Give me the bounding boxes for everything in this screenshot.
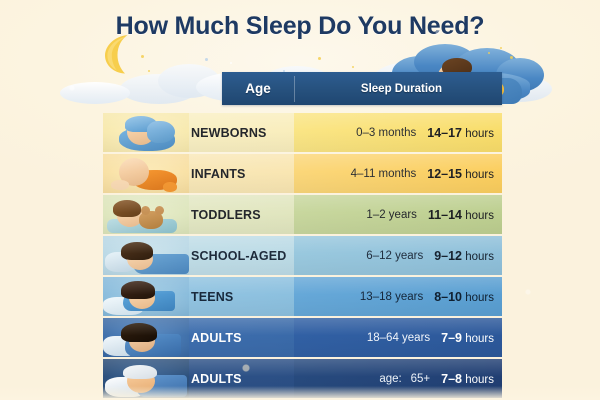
duration-unit: hours [465,251,494,263]
toddler-with-teddy-icon [103,195,189,234]
table-body: NEWBORNS 0–3 months 14–17 hours [103,113,502,398]
table-row[interactable]: INFANTS 4–11 months 12–15 hours [103,154,502,193]
page-title: How Much Sleep Do You Need? [0,12,600,41]
age-range-value: 0–3 months [356,127,416,139]
duration-value: 7–9 [441,331,462,345]
duration-unit: hours [465,292,494,304]
duration-value: 11–14 [428,208,462,222]
table-row[interactable]: ADULTS 18–64 years 7–9 hours [103,318,502,357]
duration-unit: hours [465,169,494,181]
sleeping-child-icon [103,236,189,275]
table-row[interactable]: TEENS 13–18 years 8–10 hours [103,277,502,316]
column-header-sleep-duration: Sleep Duration [295,83,502,95]
duration-value: 7–8 [441,372,462,386]
age-group-label: NEWBORNS [191,113,267,152]
age-range-value: 4–11 months [351,168,417,180]
age-group-label: TEENS [191,277,233,316]
bottom-fade [0,386,600,400]
table-row[interactable]: SCHOOL-AGED 6–12 years 9–12 hours [103,236,502,275]
duration-value: 9–12 [434,249,462,263]
duration-unit: hours [465,210,494,222]
table-header-row: Age Sleep Duration [222,72,502,105]
crawling-infant-icon [103,154,189,193]
sleep-infographic: Age Sleep Duration NEWBORNS 0–3 months [0,0,600,400]
sleeping-teen-icon [103,277,189,316]
age-range-value: 1–2 years [366,209,417,221]
duration-value: 12–15 [427,167,462,181]
age-range-value: 13–18 years [360,291,423,303]
duration-unit: hours [465,333,494,345]
duration-unit: hours [465,374,494,386]
column-header-age: Age [222,81,294,96]
sleeping-adult-icon [103,318,189,357]
duration-unit: hours [465,128,494,140]
age-range-value: 18–64 years [367,332,430,344]
duration-value: 8–10 [434,290,462,304]
swaddled-newborn-icon [103,113,189,152]
age-group-label: SCHOOL-AGED [191,236,286,275]
age-group-label: INFANTS [191,154,246,193]
duration-value: 14–17 [427,126,462,140]
age-group-label: ADULTS [191,318,242,357]
table-row[interactable]: NEWBORNS 0–3 months 14–17 hours [103,113,502,152]
table-row[interactable]: TODDLERS 1–2 years 11–14 hours [103,195,502,234]
age-range-value: 6–12 years [366,250,423,262]
age-group-label: TODDLERS [191,195,261,234]
age-range-value: age: 65+ [379,373,430,385]
